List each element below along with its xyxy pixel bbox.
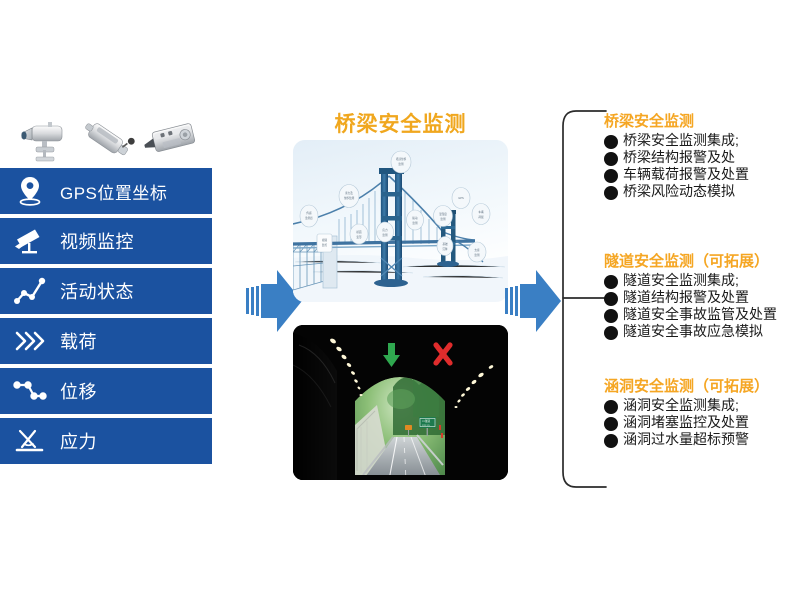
bridge-callout: 传感监测点 <box>300 205 318 227</box>
svg-text:荷载: 荷载 <box>478 215 484 219</box>
sidebar-item-load[interactable]: 载荷 <box>0 318 212 364</box>
device-icon-strip <box>8 108 208 170</box>
group-bridge-monitoring: 桥梁安全监测 桥梁安全监测集成; 桥梁结构报警及处 车辆载荷报警及处置 桥梁风险… <box>604 110 800 201</box>
list-item: 桥梁安全监测集成; <box>604 133 800 149</box>
cctv-camera-icon <box>0 218 60 264</box>
bullet-icon <box>604 326 618 340</box>
bullet-icon <box>604 400 618 414</box>
list-item: 涵洞过水量超标预警 <box>604 432 800 448</box>
svg-text:应力: 应力 <box>382 228 388 232</box>
line-chart-icon <box>0 268 60 314</box>
list-item-label: 桥梁结构报警及处 <box>623 150 735 166</box>
svg-text:温湿度: 温湿度 <box>439 212 447 216</box>
list-item-label: 车辆载荷报警及处置 <box>623 167 749 183</box>
map-pin-icon <box>0 168 60 214</box>
bullet-icon <box>604 186 618 200</box>
bullet-icon <box>604 169 618 183</box>
svg-text:桥面: 桥面 <box>356 230 362 234</box>
chevrons-right-icon <box>0 318 60 364</box>
svg-text:监测: 监测 <box>398 162 404 166</box>
diagram-canvas: GPS位置坐标 视频监控 <box>0 0 800 600</box>
svg-text:监控: 监控 <box>322 243 328 247</box>
group-heading: 桥梁安全监测 <box>604 110 800 131</box>
list-item: 隧道安全监测集成; <box>604 273 800 289</box>
list-item: 涵洞堵塞监控及处置 <box>604 415 800 431</box>
list-item-label: 隧道结构报警及处置 <box>623 290 749 306</box>
sidebar-item-activity[interactable]: 活动状态 <box>0 268 212 314</box>
center-title: 桥梁安全监测 <box>293 108 508 138</box>
svg-text:监测: 监测 <box>412 221 418 225</box>
list-item-label: 隧道安全事故监管及处置 <box>623 307 777 323</box>
svg-text:传感: 传感 <box>306 211 312 215</box>
bullet-icon <box>604 135 618 149</box>
list-item-label: 涵洞过水量超标预警 <box>623 432 749 448</box>
svg-text:××× m: ××× m <box>422 423 429 427</box>
list-item: 桥梁结构报警及处 <box>604 150 800 166</box>
list-item: 涵洞安全监测集成; <box>604 398 800 414</box>
sidebar-item-displacement[interactable]: 位移 <box>0 368 212 414</box>
sidebar-item-label: GPS位置坐标 <box>60 179 167 204</box>
list-item-label: 涵洞安全监测集成; <box>623 398 739 414</box>
group-heading: 隧道安全监测（可拓展） <box>604 250 800 271</box>
svg-text:监测: 监测 <box>440 217 446 221</box>
svg-text:支座: 支座 <box>474 248 480 252</box>
monitoring-parameter-list: GPS位置坐标 视频监控 <box>0 168 212 464</box>
svg-text:变形: 变形 <box>356 235 362 239</box>
svg-text:沉降: 沉降 <box>442 247 448 251</box>
sidebar-item-label: 活动状态 <box>60 278 134 304</box>
svg-text:监测: 监测 <box>382 233 388 237</box>
svg-text:GPS: GPS <box>458 196 464 200</box>
bullet-icon <box>604 275 618 289</box>
bullet-icon <box>604 309 618 323</box>
suspension-bridge-illustration: 传感监测点 索力及位移监测 塔顶位移监测 桥面变形 应力监测 振动监测 温湿度监… <box>293 140 508 302</box>
tunnel-photo: ××隧道××× m <box>293 325 508 480</box>
list-item-label: 隧道安全监测集成; <box>623 273 739 289</box>
bullet-icon <box>604 152 618 166</box>
bullet-icon <box>604 434 618 448</box>
svg-text:视频: 视频 <box>322 238 328 242</box>
svg-text:基础: 基础 <box>442 242 448 246</box>
list-item: 隧道安全事故监管及处置 <box>604 307 800 323</box>
svg-text:塔顶位移: 塔顶位移 <box>396 157 407 161</box>
displacement-nodes-icon <box>0 368 60 414</box>
sidebar-item-label: 位移 <box>60 378 97 404</box>
svg-text:振动: 振动 <box>412 216 418 220</box>
stress-angle-icon <box>0 418 60 464</box>
svg-text:位移监测: 位移监测 <box>344 196 355 200</box>
list-item-label: 隧道安全事故应急模拟 <box>623 324 763 340</box>
sidebar-item-gps[interactable]: GPS位置坐标 <box>0 168 212 214</box>
sidebar-item-label: 载荷 <box>60 328 97 354</box>
list-item: 隧道结构报警及处置 <box>604 290 800 306</box>
list-item-label: 桥梁安全监测集成; <box>623 133 739 149</box>
arrow-right-right <box>505 262 563 345</box>
list-item: 隧道安全事故应急模拟 <box>604 324 800 340</box>
list-item-label: 涵洞堵塞监控及处置 <box>623 415 749 431</box>
sidebar-item-video[interactable]: 视频监控 <box>0 218 212 264</box>
inclinometer-sensor-device-icon <box>80 114 136 171</box>
svg-text:监测: 监测 <box>474 253 480 257</box>
group-culvert-monitoring: 涵洞安全监测（可拓展） 涵洞安全监测集成; 涵洞堵塞监控及处置 涵洞过水量超标预… <box>604 375 800 449</box>
svg-text:车辆: 车辆 <box>478 210 484 214</box>
cctv-camera-device-icon <box>18 116 76 171</box>
svg-text:索力及: 索力及 <box>345 191 353 195</box>
load-cell-device-icon <box>142 116 202 169</box>
svg-text:监测点: 监测点 <box>305 216 313 220</box>
sidebar-item-label: 应力 <box>60 428 97 454</box>
list-item-label: 桥梁风险动态模拟 <box>623 184 735 200</box>
list-item: 桥梁风险动态模拟 <box>604 184 800 200</box>
bullet-icon <box>604 292 618 306</box>
grouping-bracket <box>558 108 610 495</box>
list-item: 车辆载荷报警及处置 <box>604 167 800 183</box>
svg-text:××隧道: ××隧道 <box>422 419 431 423</box>
sidebar-item-label: 视频监控 <box>60 228 134 254</box>
group-heading: 涵洞安全监测（可拓展） <box>604 375 800 396</box>
group-tunnel-monitoring: 隧道安全监测（可拓展） 隧道安全监测集成; 隧道结构报警及处置 隧道安全事故监管… <box>604 250 800 341</box>
sidebar-item-stress[interactable]: 应力 <box>0 418 212 464</box>
bullet-icon <box>604 417 618 431</box>
